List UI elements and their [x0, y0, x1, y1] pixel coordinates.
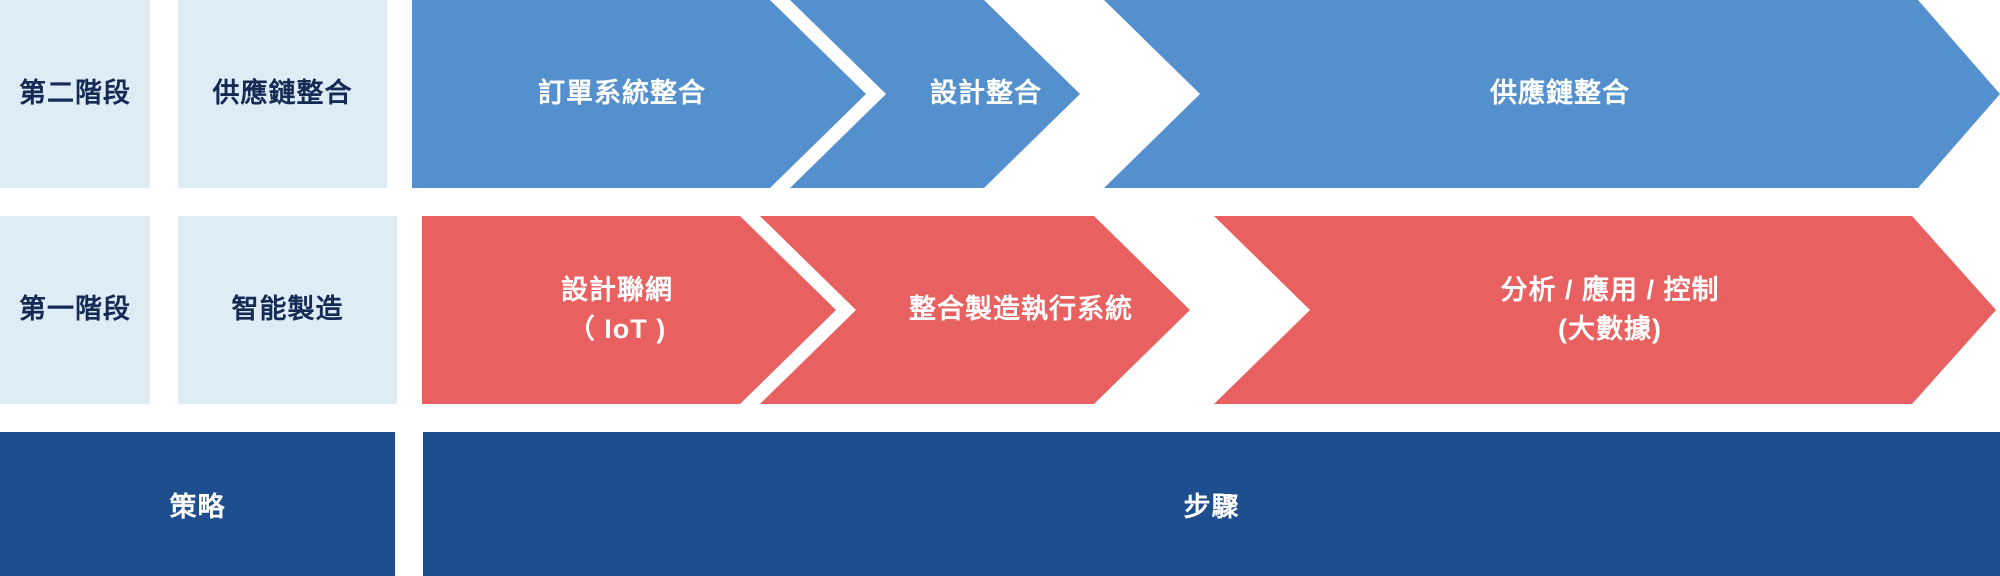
process-diagram: 第二階段 供應鏈整合 第一階段 智能製造 訂單系統整合 設計整合 供應鏈整合 — [0, 0, 2000, 576]
arrow-label-row1-step3: 供應鏈整合 — [1200, 0, 1920, 188]
arrow-label-row1-step2: 設計整合 — [886, 0, 1086, 188]
arrow-label-row2-step2: 整合製造執行系統 — [856, 216, 1186, 404]
arrow-label-row2-step3-line1: 分析 / 應用 / 控制 — [1500, 271, 1719, 310]
phase-label-row2-text: 第一階段 — [19, 293, 131, 327]
phase-label-row1-text: 第二階段 — [19, 77, 131, 111]
phase-label-row2: 第一階段 — [0, 216, 150, 404]
theme-label-row2: 智能製造 — [178, 216, 397, 404]
arrow-label-row1-step2-line1: 設計整合 — [930, 74, 1042, 113]
arrow-label-row1-step3-line1: 供應鏈整合 — [1490, 74, 1630, 113]
arrow-label-row1-step1-line1: 訂單系統整合 — [538, 74, 706, 113]
footer-steps-cell: 步驟 — [423, 432, 2000, 576]
theme-label-row2-text: 智能製造 — [232, 293, 344, 327]
arrow-label-row2-step3: 分析 / 應用 / 控制 (大數據) — [1310, 216, 1910, 404]
theme-label-row1: 供應鏈整合 — [178, 0, 387, 188]
footer-steps-label: 步驟 — [1184, 485, 1240, 524]
arrow-label-row2-step3-line2: (大數據) — [1558, 310, 1662, 349]
footer-strategy-label: 策略 — [170, 485, 226, 524]
arrow-label-row2-step1-line2: （ IoT ) — [568, 310, 666, 349]
arrow-label-row2-step1: 設計聯網 （ IoT ) — [422, 216, 812, 404]
arrow-label-row2-step2-line1: 整合製造執行系統 — [909, 290, 1133, 329]
arrow-label-row1-step1: 訂單系統整合 — [412, 0, 832, 188]
phase-label-row1: 第二階段 — [0, 0, 150, 188]
theme-label-row1-text: 供應鏈整合 — [213, 77, 353, 111]
footer-strategy-cell: 策略 — [0, 432, 395, 576]
arrow-label-row2-step1-line1: 設計聯網 — [561, 271, 673, 310]
